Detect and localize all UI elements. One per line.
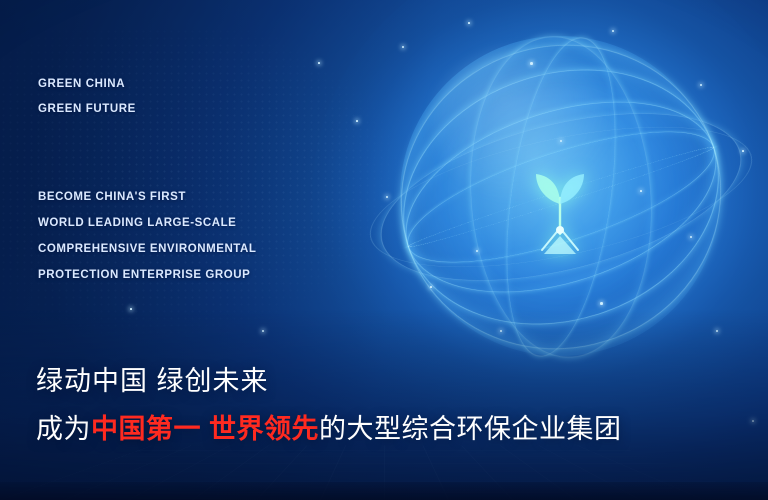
chinese-headline-line-1: 绿动中国 绿创未来 bbox=[36, 359, 622, 398]
chinese-headline-suffix: 的大型综合环保企业集团 bbox=[319, 414, 622, 444]
english-tagline-top: GREEN CHINA GREEN FUTURE bbox=[38, 72, 136, 122]
english-statement-line-1: BECOME CHINA'S FIRST bbox=[38, 184, 256, 210]
english-statement-line-3: COMPREHENSIVE ENVIRONMENTAL bbox=[38, 236, 256, 262]
english-tagline-line-2: GREEN FUTURE bbox=[38, 97, 136, 122]
hero-banner: GREEN CHINA GREEN FUTURE BECOME CHINA'S … bbox=[0, 0, 768, 500]
chinese-headline-line-2: 成为中国第一 世界领先的大型综合环保企业集团 bbox=[36, 407, 622, 446]
chinese-headline-prefix: 成为 bbox=[36, 414, 91, 444]
english-statement-line-2: WORLD LEADING LARGE-SCALE bbox=[38, 210, 256, 236]
chinese-headline: 绿动中国 绿创未来 成为中国第一 世界领先的大型综合环保企业集团 bbox=[36, 359, 622, 446]
english-statement: BECOME CHINA'S FIRST WORLD LEADING LARGE… bbox=[38, 184, 256, 288]
bottom-bar bbox=[0, 482, 768, 500]
chinese-headline-highlight: 中国第一 世界领先 bbox=[91, 414, 319, 444]
english-statement-line-4: PROTECTION ENTERPRISE GROUP bbox=[38, 262, 256, 288]
english-tagline-line-1: GREEN CHINA bbox=[38, 72, 136, 97]
